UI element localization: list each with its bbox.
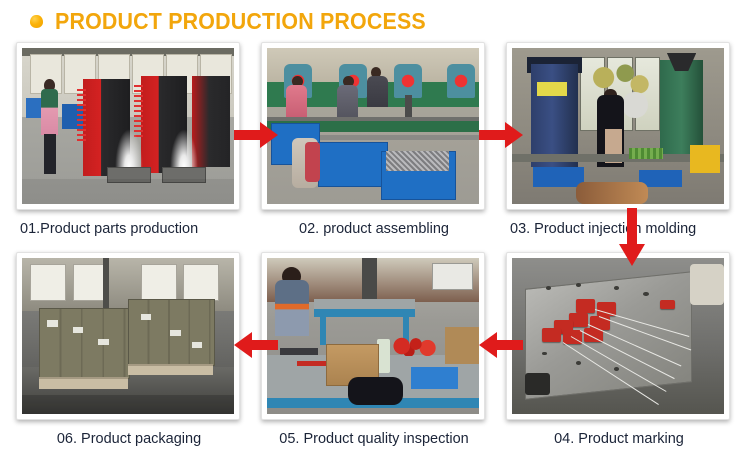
process-step-04[interactable]: 04. Product marking xyxy=(506,252,732,447)
arrow-step3-to-step4 xyxy=(617,208,647,266)
photo-frame-05 xyxy=(261,252,485,420)
photo-product-quality-inspection xyxy=(267,258,479,414)
step-caption-06: 06. Product packaging xyxy=(16,431,242,447)
process-step-02[interactable]: 02. product assembling xyxy=(261,42,487,237)
process-step-05[interactable]: 05. Product quality inspection xyxy=(261,252,487,447)
photo-product-parts-production xyxy=(22,48,234,204)
photo-product-assembling xyxy=(267,48,479,204)
photo-product-packaging xyxy=(22,258,234,414)
step-caption-02: 02. product assembling xyxy=(261,221,487,237)
photo-frame-01 xyxy=(16,42,240,210)
process-grid: 01.Product parts production xyxy=(0,42,750,464)
photo-frame-02 xyxy=(261,42,485,210)
process-step-01[interactable]: 01.Product parts production xyxy=(16,42,242,237)
step-caption-05: 05. Product quality inspection xyxy=(261,431,487,447)
step-caption-04: 04. Product marking xyxy=(506,431,732,447)
photo-product-injection-molding xyxy=(512,48,724,204)
page-title: PRODUCT PRODUCTION PROCESS xyxy=(55,8,426,35)
photo-frame-03 xyxy=(506,42,730,210)
photo-product-marking xyxy=(512,258,724,414)
arrow-step4-to-step5 xyxy=(479,330,523,360)
arrow-step2-to-step3 xyxy=(479,120,523,150)
photo-frame-06 xyxy=(16,252,240,420)
photo-frame-04 xyxy=(506,252,730,420)
page-header: PRODUCT PRODUCTION PROCESS xyxy=(0,0,750,42)
step-caption-01: 01.Product parts production xyxy=(16,221,242,237)
arrow-step5-to-step6 xyxy=(234,330,278,360)
arrow-step1-to-step2 xyxy=(234,120,278,150)
process-step-06[interactable]: 06. Product packaging xyxy=(16,252,242,447)
diamond-bullet-icon xyxy=(30,15,43,28)
